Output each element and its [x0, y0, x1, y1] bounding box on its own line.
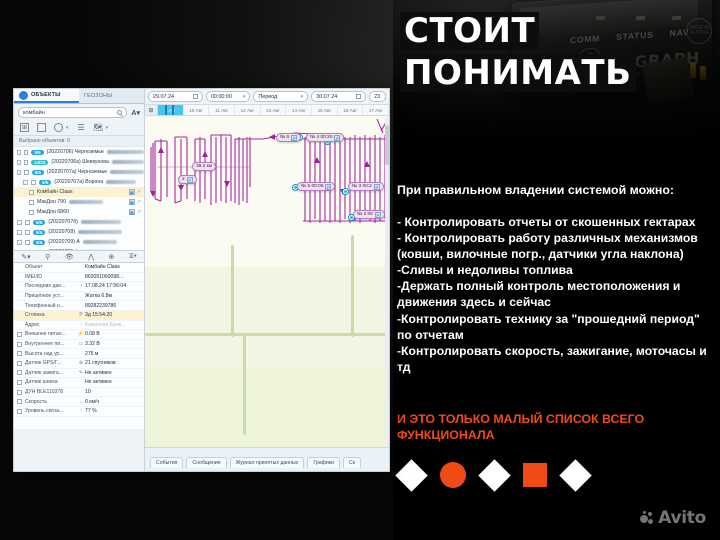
tree-item-actions: ▦⇗ — [129, 199, 141, 205]
property-name: Адрес — [25, 322, 77, 328]
parking-icon: P — [187, 177, 193, 183]
selected-objects-count: 0 — [67, 138, 70, 144]
property-value: 10 — [85, 389, 91, 395]
property-row[interactable]: IMEI/ID863051060098... — [14, 273, 144, 283]
bullet-item: -Держать полный контроль местоположения … — [397, 278, 709, 310]
circle-shape — [440, 462, 466, 488]
property-name: Внешнее питан... — [25, 331, 77, 337]
calendar-icon-from[interactable] — [193, 94, 198, 99]
parking-icon: P — [375, 212, 381, 218]
redacted-text — [78, 230, 122, 234]
property-value: Не активен — [85, 379, 112, 385]
promo-bullet-list: - Контролировать отчеты от скошенных гек… — [397, 214, 709, 375]
bottom-tab-bar[interactable]: СобытияСообщенияЖурнал принятых данныхГр… — [145, 447, 389, 471]
tree-count-badge: 5/5 — [33, 240, 45, 245]
property-name: Телефонный н... — [25, 303, 77, 309]
expander-icon[interactable]: - — [17, 240, 22, 245]
objects-tree[interactable]: -5/5(20220706) Черноземье-14/23(20220706… — [14, 147, 144, 250]
redacted-text — [110, 170, 144, 174]
tree-count-badge: 5/5 — [32, 170, 44, 175]
property-row[interactable]: Датчик шнекаНе активен — [14, 378, 144, 388]
property-checkbox-placeholder — [17, 322, 22, 327]
decorative-shapes — [400, 462, 587, 488]
bullet-item: - Контролировать отчеты от скошенных гек… — [397, 214, 709, 230]
tree-checkbox[interactable] — [29, 210, 34, 215]
main-map-area: 29.07.24 00:00:00 ▾ Период ▾ 30.07.24 23 — [145, 89, 389, 471]
property-name: Стоянка — [25, 312, 77, 318]
property-row[interactable]: Телефонный н...89282239786 — [14, 301, 144, 311]
sidebar-toolbar: ⊞ ▾ ☰ 🗺▾ — [14, 121, 144, 136]
property-value: 0 км/ч — [85, 399, 99, 405]
expander-icon[interactable]: - — [17, 230, 22, 235]
property-checkbox[interactable] — [17, 399, 22, 404]
parking-icon: P — [334, 135, 340, 141]
property-row[interactable]: Внешнее питан...⚡0.08 B — [14, 330, 144, 340]
property-name: Высота над ур... — [25, 351, 77, 357]
screenshot-root: COMM STATUS NAV AutoGRAPH VEHICLE TRACKI… — [0, 0, 720, 540]
property-checkbox[interactable] — [17, 332, 22, 337]
tree-item[interactable]: -14/23(20220706a) Шевкунова — [14, 157, 144, 167]
property-name: Уровень сигна... — [25, 408, 77, 414]
list-icon[interactable]: ☰ — [77, 123, 86, 132]
tree-checkbox[interactable] — [31, 180, 36, 185]
tree-item-label: (20220707б) — [48, 219, 78, 225]
property-row[interactable]: Внутреннее пи...▭3.32 B — [14, 340, 144, 350]
selected-objects-label: Выбрано объектов: — [19, 138, 66, 144]
property-name: Последние дан... — [25, 283, 77, 289]
tab-objects[interactable]: ОБЪЕКТЫ — [14, 89, 79, 103]
property-name: Датчик шнека — [25, 379, 77, 385]
tree-item-label: (20220707a) Черноземье — [47, 169, 107, 175]
tree-item[interactable]: -5/5(20220707a) Черноземье — [14, 167, 144, 177]
timeline-tick[interactable]: 17 Авг — [363, 105, 389, 115]
tree-checkbox[interactable] — [25, 240, 30, 245]
property-icon: ▭ — [77, 341, 85, 347]
bottom-tab[interactable]: События — [150, 457, 183, 468]
bottom-tab[interactable]: Ск — [343, 457, 361, 468]
avito-logo-icon — [640, 511, 655, 526]
tree-item[interactable]: -5/5(20220707б) — [14, 217, 144, 227]
time-to-field[interactable]: 23 — [369, 91, 386, 102]
property-row[interactable]: Высота над ур...275 м — [14, 349, 144, 359]
expander-icon[interactable]: - — [17, 150, 21, 155]
search-input-value: комбайн — [23, 110, 45, 116]
property-name: Объект — [25, 264, 77, 270]
bullet-item: -Контролировать скорость, зажигание, мот… — [397, 343, 709, 375]
map-icon[interactable]: 🗺 — [94, 123, 103, 132]
property-value: Комбайн Claas — [85, 264, 120, 270]
tab-objects-label: ОБЪЕКТЫ — [31, 92, 61, 98]
property-icon: ◌ — [77, 322, 85, 328]
headline-line-1: СТОИТ — [400, 12, 539, 50]
parking-icon: P — [325, 184, 331, 190]
promo-intro: При правильном владении системой можно: — [397, 182, 707, 198]
tree-item[interactable]: -5/5(20220706) Черноземье — [14, 147, 144, 157]
property-row[interactable]: СтоянкаP3д 15:54:20 — [14, 311, 144, 321]
property-checkbox[interactable] — [17, 409, 22, 414]
circle-icon[interactable] — [54, 123, 63, 132]
timeline-tick[interactable]: 11 Авг — [209, 105, 235, 115]
sensor-icon[interactable]: ▦ — [129, 189, 135, 195]
property-icon: ⚡ — [77, 331, 85, 337]
sidebar-search-row: комбайн A▾ — [14, 104, 144, 121]
promo-headline: СТОИТ ПОНИМАТЬ — [400, 6, 700, 92]
property-row[interactable]: Датчик зажига...✎Не активен — [14, 369, 144, 379]
tree-count-badge: 5/5 — [31, 150, 43, 155]
timeline-tick[interactable]: 9 Авг — [158, 105, 184, 115]
timeline-tick[interactable]: 10 Авг — [184, 105, 210, 115]
tree-checkbox[interactable] — [25, 220, 30, 225]
redacted-text — [106, 180, 136, 184]
bottom-tab[interactable]: Графики — [307, 457, 340, 468]
track-point-4[interactable] — [343, 189, 348, 194]
chevron-down-icon-period[interactable]: ▾ — [301, 94, 304, 100]
tree-item-label: (20220707a) Ворона — [54, 179, 103, 185]
property-row[interactable]: Скорость↔0 км/ч — [14, 397, 144, 407]
map-waypoint-label[interactable]: 38.2 км — [192, 162, 216, 171]
property-row[interactable]: Уровень сигна...↑77 % — [14, 407, 144, 417]
font-filter-icon[interactable]: A▾ — [131, 109, 140, 117]
chart-icon[interactable]: ⋀ — [88, 253, 94, 261]
tree-count-badge: 5/5 — [33, 230, 45, 235]
tree-item-label: МакДон 6860 — [37, 209, 69, 215]
selected-objects-counter: Выбрано объектов: 0 — [14, 136, 144, 147]
sensor-icon[interactable]: ▦ — [129, 199, 135, 205]
grid-icon[interactable]: ⊞ — [20, 123, 29, 132]
property-name: Внутреннее пи... — [25, 341, 77, 347]
date-to-value: 30.07.24 — [316, 94, 337, 100]
map-waypoint-label[interactable]: № 2 00P — [353, 210, 385, 219]
redacted-text — [107, 150, 144, 154]
time-to-value: 23 — [374, 94, 380, 100]
property-checkbox-placeholder — [17, 294, 22, 299]
square-icon[interactable] — [37, 123, 46, 132]
timeline-zoom-button[interactable]: ⊞ — [145, 105, 158, 115]
timeline-tick[interactable]: 12 Авг — [235, 105, 261, 115]
diamond-shape-2 — [478, 459, 511, 492]
property-value: Каменная Балк... — [85, 322, 125, 328]
property-checkbox[interactable] — [17, 361, 22, 366]
property-row[interactable]: Прицепное уст...Жатка 6.8м — [14, 292, 144, 302]
property-row[interactable]: ОбъектКомбайн Claas — [14, 263, 144, 273]
property-value: 17.08.24 17:56:04 — [85, 283, 126, 289]
tree-item[interactable]: -5/5(20220708) — [14, 227, 144, 237]
property-value: Не активен — [85, 370, 112, 376]
tree-checkbox[interactable] — [29, 190, 34, 195]
tree-item[interactable]: -5/5(20220709) А — [14, 237, 144, 247]
property-checkbox-placeholder — [17, 265, 22, 270]
property-value: 21 спутников — [85, 360, 116, 366]
chevron-down-icon-1[interactable]: ▾ — [66, 125, 69, 131]
property-value: 275 м — [85, 351, 98, 357]
gps-track-svg — [145, 117, 389, 447]
search-icon — [117, 110, 122, 115]
tree-count-badge: 5/5 — [39, 180, 51, 185]
timeline-tick[interactable]: 14 Авг — [286, 105, 312, 115]
avito-watermark: Avito — [640, 508, 706, 528]
tree-item-label: МакДон 790 — [37, 199, 66, 205]
chevron-down-icon-2[interactable]: ▾ — [106, 125, 109, 131]
sensor-icon[interactable]: ▦ — [129, 209, 135, 215]
property-icon: ◔ — [77, 283, 85, 289]
eye-icon[interactable]: 👁 — [65, 253, 74, 261]
date-range-toolbar: 29.07.24 00:00:00 ▾ Период ▾ 30.07.24 23 — [145, 89, 389, 105]
property-name: Прицепное уст... — [25, 293, 77, 299]
tree-item[interactable]: МакДон 6860▦⇗ — [14, 207, 144, 217]
waypoint-text: 2 — [182, 177, 185, 182]
waypoint-text: № 5 00:05 — [301, 184, 323, 189]
diamond-shape-1 — [395, 459, 428, 492]
timeline-tick[interactable]: 13 Авг — [261, 105, 287, 115]
map-waypoint-label[interactable]: № 3 00:2P — [348, 182, 384, 191]
expander-icon[interactable]: - — [17, 220, 22, 225]
tree-item-label: (20220709а) — [48, 249, 77, 250]
timeline-tick[interactable]: 15 Авг — [312, 105, 338, 115]
waypoint-text: № 2 00 — [357, 212, 373, 217]
tree-item-label: (20220709) А — [48, 239, 79, 245]
tree-checkbox[interactable] — [25, 230, 30, 235]
period-select[interactable]: Период ▾ — [253, 91, 308, 102]
property-value: 3.32 B — [85, 341, 100, 347]
redacted-text — [112, 160, 144, 164]
tree-item[interactable]: МакДон 790▦⇗ — [14, 197, 144, 207]
bottom-tab[interactable]: Журнал принятых данных — [230, 457, 305, 468]
bullet-item: -Сливы и недоливы топлива — [397, 262, 709, 278]
date-from-field[interactable]: 29.07.24 — [148, 91, 203, 102]
bullet-item: - Контролировать работу различных механи… — [397, 230, 709, 262]
property-checkbox-placeholder — [17, 313, 22, 318]
waypoint-text: № 3 00:2 — [352, 184, 372, 189]
tree-item-label: (20220706) Черноземье — [47, 149, 104, 155]
map-waypoint-label[interactable]: № 5 00:05P — [297, 182, 335, 191]
timeline-scale[interactable]: ⊞ 9 Авг10 Авг11 Авг12 Авг13 Авг14 Авг15 … — [145, 105, 389, 116]
property-icon: ✎ — [77, 370, 85, 376]
property-value: 3д 15:54:20 — [85, 312, 112, 318]
redacted-text — [69, 200, 103, 204]
map-waypoint-label[interactable]: 2P — [178, 175, 197, 184]
date-from-value: 29.07.24 — [153, 94, 174, 100]
objects-tab-icon — [19, 91, 28, 100]
tree-item-actions: ▦⇗ — [129, 209, 141, 215]
route-icon[interactable]: ⧖▾ — [129, 253, 137, 261]
date-to-field[interactable]: 30.07.24 — [311, 91, 366, 102]
property-name: Датчик зажига... — [25, 370, 77, 376]
property-checkbox[interactable] — [17, 390, 22, 395]
sidebar-tabs: ОБЪЕКТЫ Геозоны — [14, 89, 144, 104]
diamond-shape-3 — [559, 459, 592, 492]
map-waypoint-label[interactable]: № 6P — [276, 133, 301, 142]
property-checkbox[interactable] — [17, 370, 22, 375]
tree-checkbox[interactable] — [29, 200, 34, 205]
waypoint-text: № 4 00:20 — [310, 135, 332, 140]
bullet-item: -Контролировать технику за "прошедний пе… — [397, 311, 709, 343]
pencil-icon[interactable]: ✎▾ — [21, 253, 30, 261]
property-icon: ⊛ — [77, 360, 85, 366]
property-name: ДУН BLE110378 — [25, 389, 77, 395]
parking-icon: P — [291, 135, 297, 141]
tree-item[interactable]: -5/5(20220707a) Ворона — [14, 177, 144, 187]
time-from-field[interactable]: 00:00:00 ▾ — [206, 91, 251, 102]
timeline-tick[interactable]: 16 Авг — [338, 105, 364, 115]
redacted-text — [81, 220, 121, 224]
tree-checkbox[interactable] — [24, 150, 28, 155]
property-checkbox[interactable] — [17, 380, 22, 385]
property-value: 77 % — [85, 408, 97, 414]
waypoint-text: № 6 — [280, 135, 289, 140]
property-row[interactable]: Датчик GPS/Г...⊛21 спутников — [14, 359, 144, 369]
expander-icon[interactable]: - — [23, 180, 28, 185]
property-checkbox[interactable] — [17, 351, 22, 356]
property-row[interactable]: Последние дан...◔17.08.24 17:56:04 — [14, 282, 144, 292]
property-icon: ↔ — [77, 399, 85, 405]
chevron-down-icon-time-from[interactable]: ▾ — [243, 94, 246, 100]
objects-sidebar: ОБЪЕКТЫ Геозоны комбайн A▾ ⊞ ▾ ☰ — [14, 89, 145, 472]
tree-count-badge: 5/5 — [33, 220, 45, 225]
expander-icon[interactable]: - — [17, 250, 22, 251]
map-waypoint-label[interactable]: № 4 00:20P — [306, 133, 344, 142]
tree-item[interactable]: Комбайн Claas▦⇗ — [14, 187, 144, 197]
property-name: Датчик GPS/Г... — [25, 360, 77, 366]
link-icon[interactable]: ⇗ — [137, 199, 141, 205]
avito-wordmark: Avito — [658, 508, 706, 528]
tree-checkbox[interactable] — [24, 170, 28, 175]
property-row[interactable]: Адрес◌Каменная Балк... — [14, 321, 144, 331]
expander-icon[interactable]: - — [17, 170, 21, 175]
tab-geozones-label: Геозоны — [84, 93, 112, 99]
expander-icon[interactable]: - — [17, 160, 21, 165]
time-from-value: 00:00:00 — [211, 94, 232, 100]
map-canvas[interactable]: 38.2 км2P№ 6P№ 4 00:20P№ 5 00:05P№ 3 00:… — [145, 117, 389, 447]
tree-item-actions: ▦⇗ — [129, 189, 141, 195]
property-name: Скорость — [25, 399, 77, 405]
waypoint-text: 38.2 км — [196, 164, 212, 169]
property-icon: P — [77, 312, 85, 318]
calendar-icon-to[interactable] — [356, 94, 361, 99]
headline-line-2: ПОНИМАТЬ — [400, 54, 636, 92]
link-icon[interactable]: ⇗ — [137, 209, 141, 215]
tree-count-badge: 5/5 — [33, 250, 45, 251]
redacted-text — [83, 240, 117, 244]
tree-item-label: (20220708) — [48, 229, 75, 235]
property-value: 863051060098... — [85, 274, 123, 280]
property-icon: ↑ — [77, 408, 85, 414]
tracking-app-window: ОБЪЕКТЫ Геозоны комбайн A▾ ⊞ ▾ ☰ — [13, 88, 390, 472]
map-vertical-scrollbar[interactable] — [385, 117, 389, 447]
link-icon[interactable]: ⇗ — [137, 189, 141, 195]
object-properties-list[interactable]: ОбъектКомбайн ClaasIMEI/ID863051060098..… — [14, 263, 144, 429]
period-value: Период — [258, 94, 277, 100]
tree-count-badge: 14/23 — [31, 160, 49, 165]
pin-icon[interactable]: ⚲ — [45, 253, 50, 261]
property-value: 0.08 B — [85, 331, 100, 337]
property-checkbox[interactable] — [17, 342, 22, 347]
bottom-tab[interactable]: Сообщения — [186, 457, 226, 468]
property-checkbox-placeholder — [17, 274, 22, 279]
tab-geozones[interactable]: Геозоны — [79, 89, 144, 103]
property-value: 89282239786 — [85, 303, 116, 309]
target-icon[interactable]: ⊕ — [108, 253, 114, 261]
property-checkbox-placeholder — [17, 284, 22, 289]
search-input[interactable]: комбайн — [18, 107, 127, 118]
promo-cta-text: И ЭТО ТОЛЬКО МАЛЫЙ СПИСОК ВСЕГО ФУНКЦИОН… — [397, 412, 707, 443]
property-checkbox-placeholder — [17, 303, 22, 308]
property-row[interactable]: ДУН BLE11037810 — [14, 388, 144, 398]
parking-icon: P — [374, 184, 380, 190]
sidebar-tools-bar: ✎▾ ⚲ 👁 ⋀ ⊕ ⧖▾ — [14, 250, 144, 263]
property-name: IMEI/ID — [25, 274, 77, 280]
property-value: Жатка 6.8м — [85, 293, 112, 299]
tree-item-label: Комбайн Claas — [37, 189, 73, 195]
square-shape — [523, 463, 547, 487]
tree-checkbox[interactable] — [24, 160, 28, 165]
tree-checkbox[interactable] — [25, 250, 30, 251]
tree-item-label: (20220706a) Шевкунова — [51, 159, 109, 165]
